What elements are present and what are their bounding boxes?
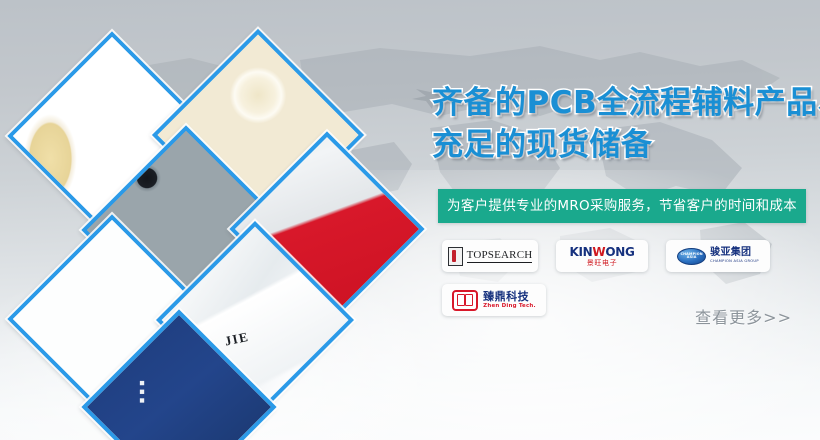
zhen-ding-wordmark-en: Zhen Ding Tech.: [483, 304, 536, 310]
product-collage: JIE: [0, 0, 430, 440]
topsearch-mark-icon: [448, 247, 463, 266]
champion-asia-wordmark-en: CHAMPION ASIA GROUP: [710, 260, 759, 264]
promo-banner: JIE 齐备的PCB全流程辅料产品、 充足的现货储备 为客户提供专业的MRO采购…: [0, 0, 820, 440]
logo-kinwong[interactable]: KINWONG 景旺电子: [556, 240, 648, 272]
logo-topsearch[interactable]: TOPSEARCH: [442, 240, 538, 272]
navy-sheet-dots: [134, 377, 144, 407]
subtitle-bar: 为客户提供专业的MRO采购服务，节省客户的时间和成本: [438, 189, 806, 223]
zhen-ding-wordmark-cn: 臻鼎科技: [483, 291, 536, 302]
logo-champion-asia[interactable]: 骏亚集团 CHAMPION ASIA GROUP: [666, 240, 770, 272]
headline-line-2: 充足的现货储备: [432, 124, 820, 166]
view-more-link[interactable]: 查看更多>>: [695, 310, 792, 326]
banner-content: 齐备的PCB全流程辅料产品、 充足的现货储备 为客户提供专业的MRO采购服务，节…: [432, 0, 820, 440]
globe-icon: [677, 248, 706, 265]
headline: 齐备的PCB全流程辅料产品、 充足的现货储备: [432, 82, 820, 166]
kinwong-wordmark-cn: 景旺电子: [587, 260, 617, 267]
champion-asia-wordmark-cn: 骏亚集团: [710, 248, 759, 258]
headline-line-1: 齐备的PCB全流程辅料产品、: [432, 82, 820, 124]
logo-row-1: TOPSEARCH KINWONG 景旺电子 骏亚集团 CHAMPION ASI: [442, 240, 820, 272]
zhen-ding-mark-icon: [452, 290, 478, 311]
kinwong-wordmark: KINWONG: [569, 246, 634, 258]
topsearch-wordmark: TOPSEARCH: [467, 250, 533, 263]
logo-zhen-ding[interactable]: 臻鼎科技 Zhen Ding Tech.: [442, 284, 546, 316]
